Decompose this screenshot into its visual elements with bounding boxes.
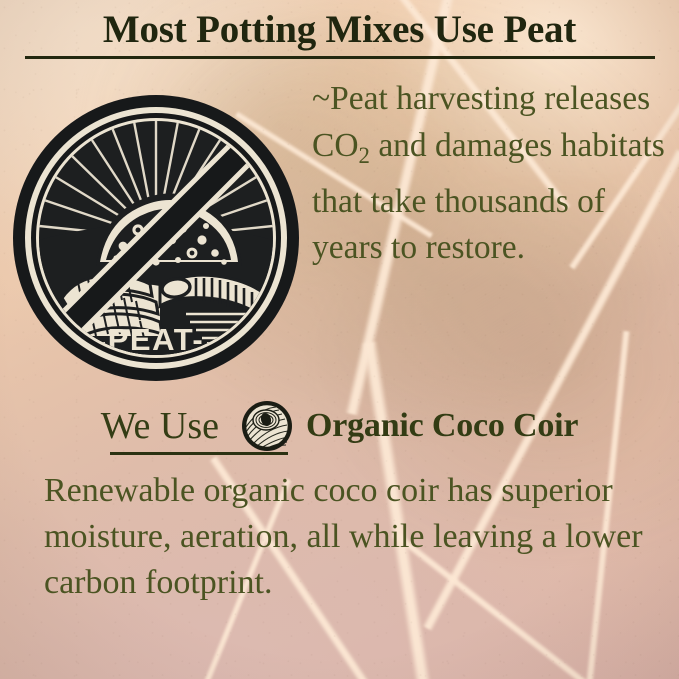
coco-coir-label: Organic Coco Coir (306, 405, 578, 447)
peat-impact-paragraph: ~Peat harvesting releases CO2 and damage… (312, 76, 674, 272)
co2-subscript: 2 (359, 142, 370, 167)
we-use-label: We Use (101, 403, 219, 449)
coco-benefit-paragraph: Renewable organic coco coir has superior… (44, 468, 644, 606)
we-use-underline (110, 452, 288, 455)
headline-container: Most Potting Mixes Use Peat (0, 8, 679, 52)
coconut-icon (241, 400, 293, 452)
headline-underline (25, 56, 655, 59)
peat-free-badge: PEAT- -FREE- (10, 90, 302, 386)
page-title: Most Potting Mixes Use Peat (103, 8, 576, 52)
peat-free-infographic: Most Potting Mixes Use Peat ~Peat harves… (0, 0, 679, 679)
we-use-row: We Use (0, 398, 679, 454)
